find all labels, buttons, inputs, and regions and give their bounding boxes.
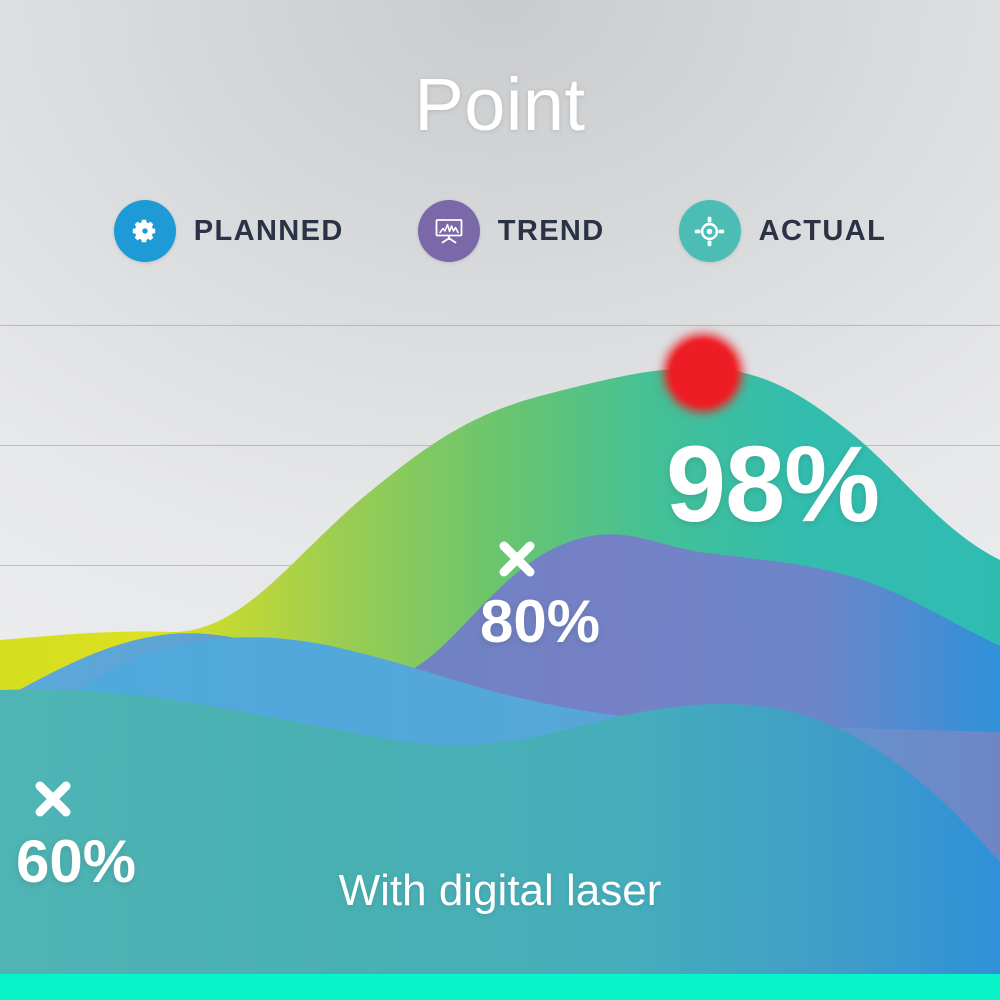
legend-label: TREND (498, 215, 605, 248)
legend-item-planned[interactable]: PLANNED (114, 200, 344, 262)
infographic-canvas: Point PLANNED TREND (0, 0, 1000, 1000)
red-dot-marker (670, 340, 736, 406)
callout-trend: 80% (486, 536, 600, 652)
caption: With digital laser (0, 866, 1000, 916)
callout-actual: 98% (666, 430, 879, 538)
legend-label: ACTUAL (759, 215, 887, 248)
legend-item-trend[interactable]: TREND (418, 200, 605, 262)
bottom-accent-bar (0, 974, 1000, 1000)
legend-label: PLANNED (194, 215, 344, 248)
callout-value: 80% (480, 592, 600, 652)
callout-value: 98% (666, 430, 879, 538)
page-title: Point (0, 62, 1000, 147)
legend-item-actual[interactable]: ACTUAL (679, 200, 887, 262)
gear-icon (114, 200, 176, 262)
x-marker-icon (494, 536, 540, 582)
x-marker-icon (30, 776, 76, 822)
legend: PLANNED TREND (0, 200, 1000, 262)
target-icon (679, 200, 741, 262)
presentation-chart-icon (418, 200, 480, 262)
